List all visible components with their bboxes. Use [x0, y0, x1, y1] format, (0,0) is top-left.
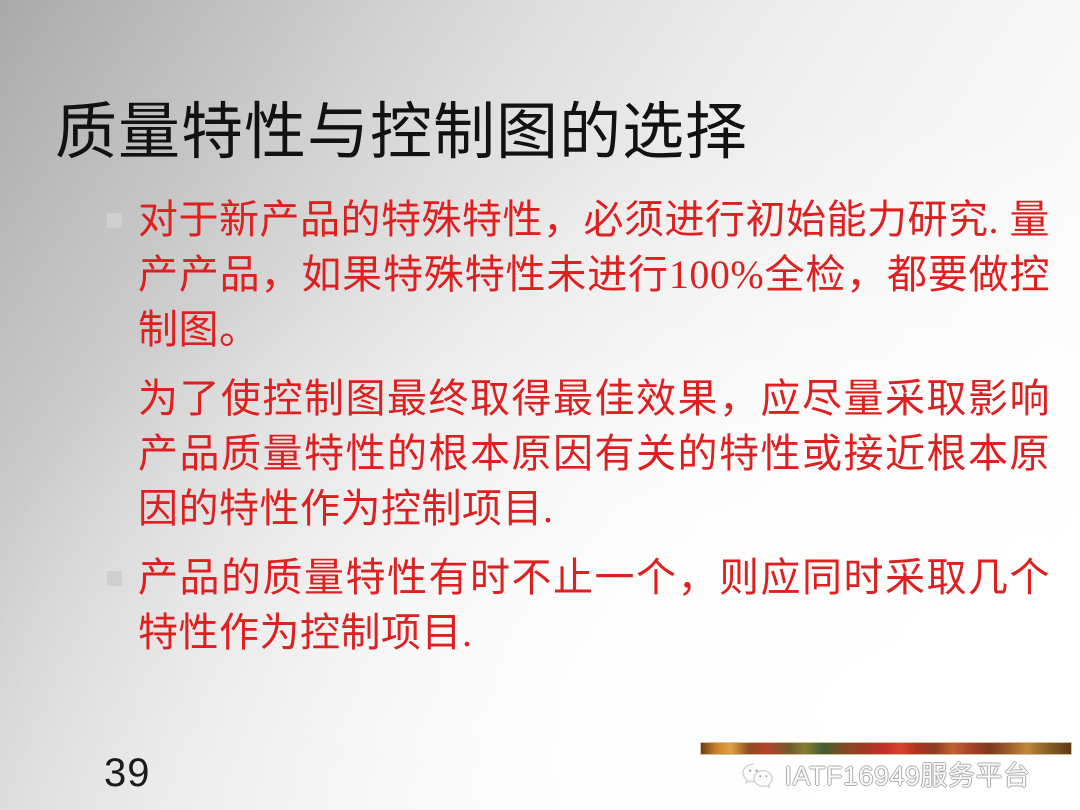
list-item-text: 对于新产品的特殊特性，必须进行初始能力研究. 量产产品，如果特殊特性未进行100…	[138, 192, 1050, 357]
watermark-label-row: IATF16949服务平台	[700, 760, 1072, 792]
slide-canvas: 质量特性与控制图的选择 对于新产品的特殊特性，必须进行初始能力研究. 量产产品，…	[0, 0, 1080, 810]
page-title: 质量特性与控制图的选择	[55, 97, 748, 169]
watermark-text: IATF16949服务平台	[784, 760, 1030, 792]
slide-content-layer: 质量特性与控制图的选择 对于新产品的特殊特性，必须进行初始能力研究. 量产产品，…	[0, 0, 1080, 810]
wechat-icon	[741, 762, 775, 790]
square-bullet-icon	[107, 571, 122, 586]
list-item: 产品的质量特性有时不止一个，则应同时采取几个特性作为控制项目.	[100, 550, 1050, 660]
watermark: IATF16949服务平台	[700, 742, 1072, 792]
list-item-text: 为了使控制图最终取得最佳效果，应尽量采取影响产品质量特性的根本原因有关的特性或接…	[138, 371, 1050, 536]
watermark-color-strip	[700, 742, 1072, 755]
list-item: 为了使控制图最终取得最佳效果，应尽量采取影响产品质量特性的根本原因有关的特性或接…	[100, 371, 1050, 536]
list-item: 对于新产品的特殊特性，必须进行初始能力研究. 量产产品，如果特殊特性未进行100…	[100, 192, 1050, 357]
bullet-list: 对于新产品的特殊特性，必须进行初始能力研究. 量产产品，如果特殊特性未进行100…	[100, 192, 1050, 674]
list-item-text: 产品的质量特性有时不止一个，则应同时采取几个特性作为控制项目.	[138, 550, 1050, 660]
page-number: 39	[104, 750, 151, 796]
square-bullet-icon	[107, 392, 122, 407]
square-bullet-icon	[107, 213, 122, 228]
